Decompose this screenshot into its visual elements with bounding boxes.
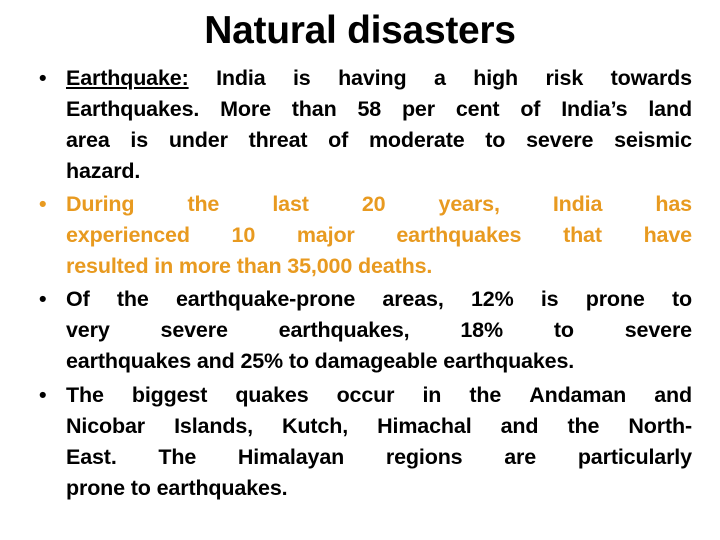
word: 10 bbox=[232, 220, 256, 251]
bullet-marker-icon: • bbox=[39, 63, 55, 94]
word: Of bbox=[66, 284, 90, 315]
word: earthquakes and 25% to damageable earthq… bbox=[66, 346, 574, 377]
word: under bbox=[169, 125, 228, 156]
text-line: areaisunderthreatofmoderatetosevereseism… bbox=[66, 125, 692, 156]
word: of bbox=[328, 125, 348, 156]
word: to bbox=[672, 284, 692, 315]
word: resulted in more than 35,000 deaths. bbox=[66, 251, 432, 282]
text-line: earthquakes and 25% to damageable earthq… bbox=[66, 346, 692, 377]
word: is bbox=[541, 284, 559, 315]
slide-body: • Earthquake:Indiaishavingahighrisktowar… bbox=[28, 63, 692, 504]
word: have bbox=[644, 220, 692, 251]
word: Earthquakes. bbox=[66, 94, 199, 125]
word: and bbox=[654, 380, 692, 411]
word: severe bbox=[161, 315, 228, 346]
word: regions bbox=[386, 442, 463, 473]
word: Himalayan bbox=[238, 442, 344, 473]
word: the bbox=[568, 411, 600, 442]
word: last bbox=[272, 189, 308, 220]
word: the bbox=[117, 284, 149, 315]
word: severe bbox=[625, 315, 692, 346]
text-line: Duringthelast20years,Indiahas bbox=[66, 189, 692, 220]
word: The bbox=[158, 442, 196, 473]
word: high bbox=[473, 63, 518, 94]
text-line: Earthquake:Indiaishavingahighrisktowards bbox=[66, 63, 692, 94]
word: is bbox=[130, 125, 148, 156]
word: risk bbox=[545, 63, 583, 94]
word: earthquakes bbox=[396, 220, 521, 251]
bullet-text: Earthquake:Indiaishavingahighrisktowards… bbox=[66, 63, 692, 187]
word: prone to earthquakes. bbox=[66, 473, 287, 504]
word: earthquake-prone bbox=[176, 284, 355, 315]
bullet-item: • Duringthelast20years,Indiahas experien… bbox=[28, 189, 692, 282]
word: are bbox=[504, 442, 536, 473]
word: cent bbox=[456, 94, 500, 125]
word: The bbox=[66, 380, 104, 411]
word: of bbox=[520, 94, 540, 125]
bullet-text: Duringthelast20years,Indiahas experience… bbox=[66, 189, 692, 282]
word: areas, bbox=[382, 284, 443, 315]
word: per bbox=[402, 94, 435, 125]
word: Andaman bbox=[529, 380, 626, 411]
text-line: NicobarIslands,Kutch,HimachalandtheNorth… bbox=[66, 411, 692, 442]
word: 20 bbox=[362, 189, 386, 220]
text-line: experienced10majorearthquakesthathave bbox=[66, 220, 692, 251]
word: severe bbox=[526, 125, 593, 156]
word: years, bbox=[439, 189, 500, 220]
word: a bbox=[434, 63, 446, 94]
word: the bbox=[469, 380, 501, 411]
word: towards bbox=[611, 63, 692, 94]
word: to bbox=[554, 315, 574, 346]
word: having bbox=[338, 63, 406, 94]
word: Kutch, bbox=[282, 411, 348, 442]
word: More bbox=[220, 94, 271, 125]
word: very bbox=[66, 315, 110, 346]
text-line: verysevereearthquakes,18%tosevere bbox=[66, 315, 692, 346]
word: During bbox=[66, 189, 134, 220]
word: major bbox=[297, 220, 355, 251]
word: biggest bbox=[132, 380, 207, 411]
word: seismic bbox=[614, 125, 692, 156]
word: in bbox=[422, 380, 441, 411]
word: particularly bbox=[578, 442, 692, 473]
word: earthquakes, bbox=[279, 315, 410, 346]
word: hazard. bbox=[66, 156, 140, 187]
word: India bbox=[553, 189, 602, 220]
bullet-item: • Earthquake:Indiaishavingahighrisktowar… bbox=[28, 63, 692, 187]
word: Islands, bbox=[174, 411, 253, 442]
bullet-item: • Oftheearthquake-proneareas,12%ispronet… bbox=[28, 284, 692, 377]
word: quakes bbox=[235, 380, 308, 411]
word: to bbox=[485, 125, 505, 156]
word: and bbox=[501, 411, 539, 442]
slide: Natural disasters • Earthquake:Indiaisha… bbox=[0, 0, 720, 540]
bullet-marker-icon: • bbox=[39, 284, 55, 315]
text-line: resulted in more than 35,000 deaths. bbox=[66, 251, 692, 282]
bullet-text: Oftheearthquake-proneareas,12%isproneto … bbox=[66, 284, 692, 377]
text-line: hazard. bbox=[66, 156, 692, 187]
word: prone bbox=[586, 284, 645, 315]
word: is bbox=[293, 63, 311, 94]
bullet-text: ThebiggestquakesoccurintheAndamanand Nic… bbox=[66, 380, 692, 504]
word: India’s bbox=[561, 94, 627, 125]
word: 18% bbox=[460, 315, 503, 346]
word: area bbox=[66, 125, 110, 156]
bullet-marker-icon: • bbox=[39, 380, 55, 411]
word: threat bbox=[249, 125, 308, 156]
page-title: Natural disasters bbox=[0, 8, 720, 54]
text-line: Oftheearthquake-proneareas,12%isproneto bbox=[66, 284, 692, 315]
word: Nicobar bbox=[66, 411, 145, 442]
bullet-marker-icon: • bbox=[39, 189, 55, 220]
word: North- bbox=[628, 411, 692, 442]
text-line: Earthquakes.Morethan58percentofIndia’sla… bbox=[66, 94, 692, 125]
word: moderate bbox=[369, 125, 465, 156]
lead-label: Earthquake: bbox=[66, 63, 189, 94]
word: East. bbox=[66, 442, 117, 473]
word: the bbox=[187, 189, 219, 220]
word: 12% bbox=[471, 284, 514, 315]
bullet-item: • ThebiggestquakesoccurintheAndamanand N… bbox=[28, 380, 692, 504]
word: experienced bbox=[66, 220, 190, 251]
word: has bbox=[655, 189, 692, 220]
word: India bbox=[216, 63, 265, 94]
word: than bbox=[292, 94, 337, 125]
word: land bbox=[648, 94, 692, 125]
word: Himachal bbox=[377, 411, 471, 442]
word: 58 bbox=[357, 94, 381, 125]
word: that bbox=[563, 220, 602, 251]
text-line: prone to earthquakes. bbox=[66, 473, 692, 504]
text-line: ThebiggestquakesoccurintheAndamanand bbox=[66, 380, 692, 411]
word: occur bbox=[337, 380, 395, 411]
text-line: East.TheHimalayanregionsareparticularly bbox=[66, 442, 692, 473]
